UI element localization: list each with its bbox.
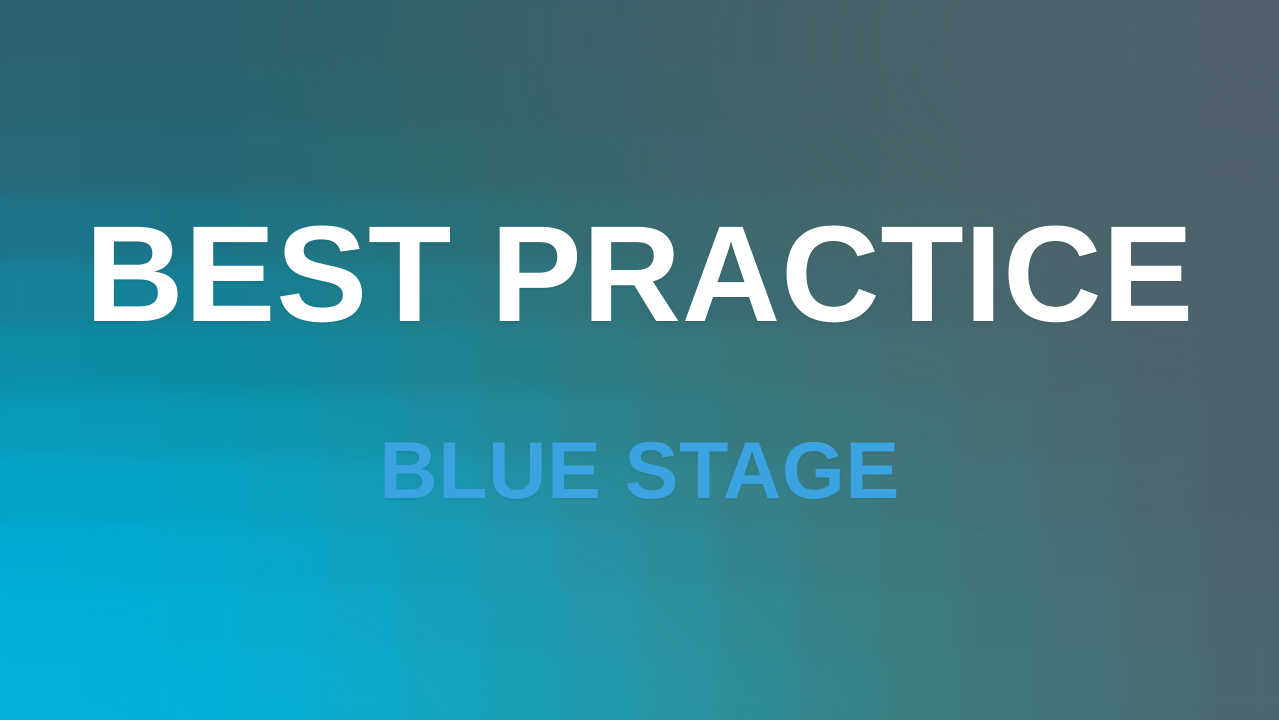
page-subtitle: BLUE STAGE: [379, 431, 900, 512]
slide-canvas: BEST PRACTICE BLUE STAGE: [0, 0, 1279, 720]
slide-content: BEST PRACTICE BLUE STAGE: [0, 0, 1279, 720]
page-title: BEST PRACTICE: [85, 208, 1194, 342]
